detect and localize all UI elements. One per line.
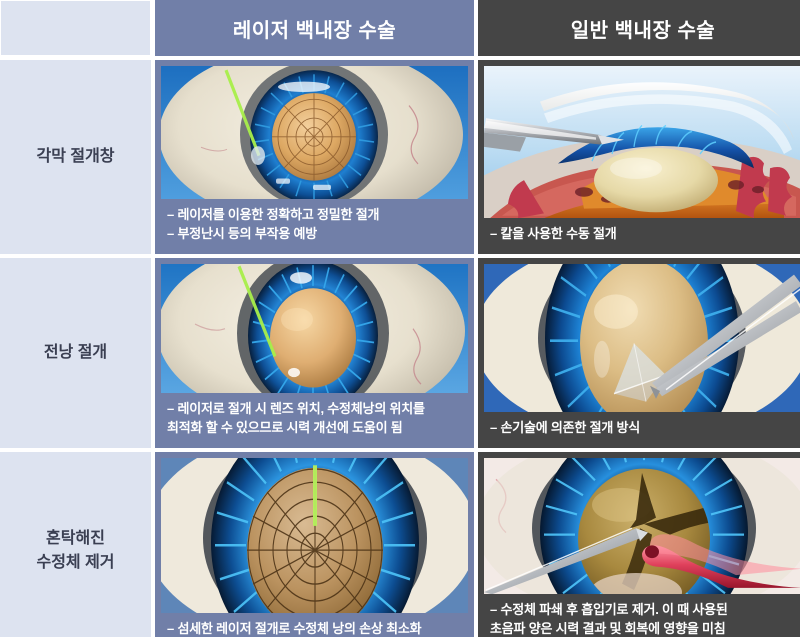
- table-corner-blank: [0, 0, 151, 56]
- figure-cross-section-eye-blade-incision: [484, 66, 800, 218]
- figure-front-eye-laser-corneal-incision: [161, 66, 468, 199]
- caption-conventional-anterior-capsulotomy: – 손기술에 의존한 절개 방식: [484, 412, 800, 442]
- cell-laser-corneal-incision: – 레이저를 이용한 정확하고 정밀한 절개 – 부정난시 등의 부작용 예방: [155, 60, 474, 254]
- row-label-anterior-capsulotomy: 전낭 절개: [0, 258, 151, 448]
- cell-conventional-corneal-incision: – 칼을 사용한 수동 절개: [478, 60, 800, 254]
- caption-laser-lens-removal: – 섬세한 레이저 절개로 수정체 낭의 손상 최소화: [161, 613, 468, 637]
- cell-laser-lens-removal: – 섬세한 레이저 절개로 수정체 낭의 손상 최소화: [155, 452, 474, 637]
- figure-front-eye-phaco-probe-lens-removal: [484, 458, 800, 594]
- column-header-laser-label: 레이저 백내장 수술: [233, 14, 396, 43]
- caption-conventional-lens-removal: – 수정체 파쇄 후 흡입기로 제거. 이 때 사용된 초음파 양은 시력 결과…: [484, 594, 800, 637]
- column-header-laser: 레이저 백내장 수술: [155, 0, 474, 56]
- column-header-conventional: 일반 백내장 수술: [478, 0, 800, 56]
- row-label-corneal-incision: 각막 절개창: [0, 60, 151, 254]
- caption-laser-anterior-capsulotomy: – 레이저로 절개 시 렌즈 위치, 수정체낭의 위치를 최적화 할 수 있으므…: [161, 393, 468, 442]
- figure-front-eye-forceps-capsulorhexis: [484, 264, 800, 412]
- cell-laser-anterior-capsulotomy: – 레이저로 절개 시 렌즈 위치, 수정체낭의 위치를 최적화 할 수 있으므…: [155, 258, 474, 448]
- cell-conventional-lens-removal: – 수정체 파쇄 후 흡입기로 제거. 이 때 사용된 초음파 양은 시력 결과…: [478, 452, 800, 637]
- figure-front-eye-laser-capsulotomy: [161, 264, 468, 393]
- caption-laser-corneal-incision: – 레이저를 이용한 정확하고 정밀한 절개 – 부정난시 등의 부작용 예방: [161, 199, 468, 248]
- caption-conventional-corneal-incision: – 칼을 사용한 수동 절개: [484, 218, 800, 248]
- figure-front-eye-laser-lens-fragmentation: [161, 458, 468, 613]
- comparison-table: 레이저 백내장 수술 일반 백내장 수술 각막 절개창: [0, 0, 800, 637]
- cell-conventional-anterior-capsulotomy: – 손기술에 의존한 절개 방식: [478, 258, 800, 448]
- column-header-conventional-label: 일반 백내장 수술: [571, 14, 715, 43]
- row-label-lens-removal: 혼탁해진 수정체 제거: [0, 452, 151, 637]
